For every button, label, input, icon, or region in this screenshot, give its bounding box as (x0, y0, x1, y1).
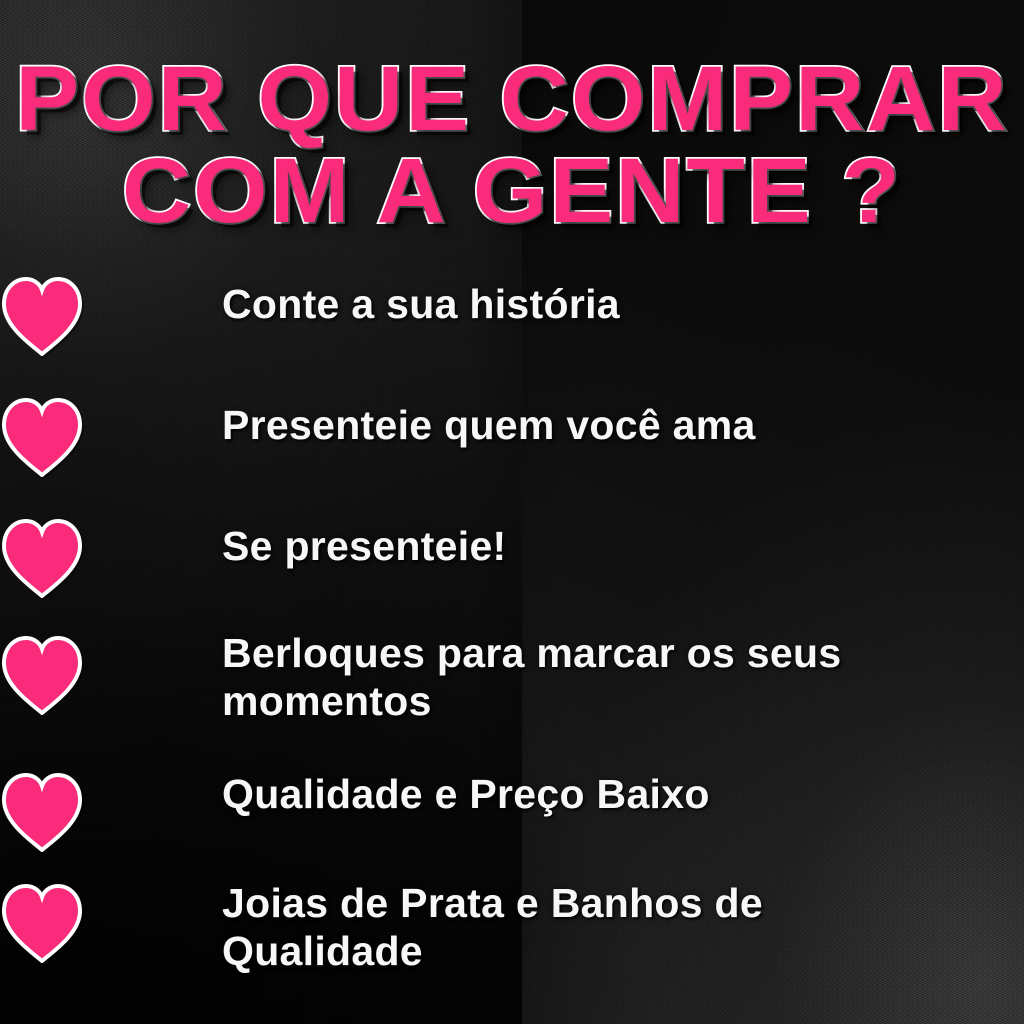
list-item-label: Conte a sua história (222, 280, 922, 328)
list-item: Joias de Prata e Banhos de Qualidade (0, 867, 1024, 988)
list-item-label: Presenteie quem você ama (222, 401, 922, 449)
heart-icon (0, 397, 84, 477)
heart-icon (0, 772, 84, 852)
heart-icon (0, 276, 84, 356)
list-item-label: Joias de Prata e Banhos de Qualidade (222, 879, 922, 975)
page-title-line-1: POR QUE COMPRAR (0, 56, 1024, 142)
heart-icon (0, 635, 84, 715)
heart-icon (0, 883, 84, 963)
list-item-label: Se presenteie! (222, 522, 922, 570)
promo-poster: POR QUE COMPRAR COM A GENTE ? Conte a su… (0, 0, 1024, 1024)
list-item: Se presenteie! (0, 504, 1024, 625)
list-item: Presenteie quem você ama (0, 383, 1024, 504)
benefits-list: Conte a sua história Presenteie quem voc… (0, 262, 1024, 988)
list-item-label: Berloques para marcar os seus momentos (222, 629, 922, 725)
page-title: POR QUE COMPRAR COM A GENTE ? (0, 56, 1024, 235)
list-item: Berloques para marcar os seus momentos (0, 625, 1024, 746)
poster-content: POR QUE COMPRAR COM A GENTE ? Conte a su… (0, 0, 1024, 1024)
page-title-line-2: COM A GENTE ? (0, 148, 1024, 234)
list-item: Qualidade e Preço Baixo (0, 746, 1024, 867)
list-item: Conte a sua história (0, 262, 1024, 383)
list-item-label: Qualidade e Preço Baixo (222, 770, 922, 818)
heart-icon (0, 518, 84, 598)
